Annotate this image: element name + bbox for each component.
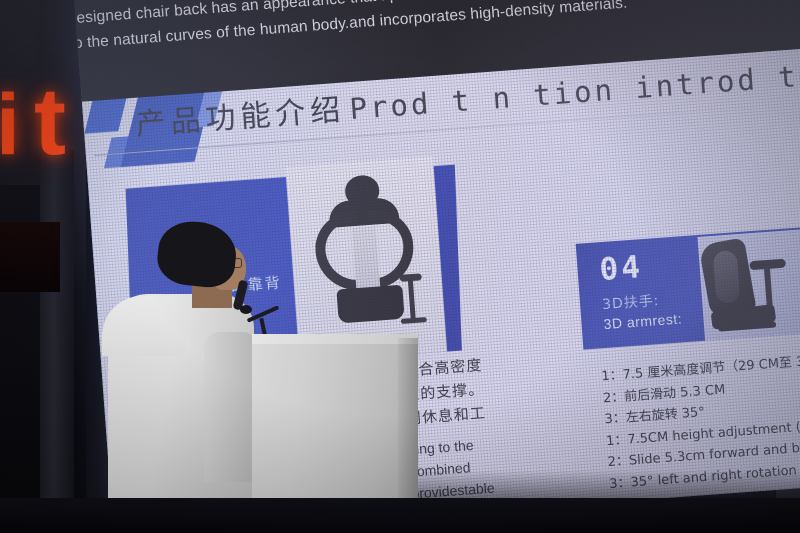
floor: [0, 498, 800, 533]
slide-title-cn: 产品功能介绍: [135, 92, 347, 142]
card-label-cn: 3D扶手:: [601, 290, 660, 314]
chair-back-photo: [285, 156, 447, 362]
card-number: 04: [598, 249, 644, 288]
venue-sign-letter-t: t: [34, 74, 64, 170]
office-chair-photo: [697, 229, 800, 341]
subtitle-text: designed chair back has an appearance th…: [74, 0, 800, 56]
hall-pillar: [40, 150, 74, 533]
presentation-photo: i t 产品功能介绍 Prod t n tion introd tion: [0, 0, 800, 533]
venue-sign: i t: [0, 72, 74, 182]
venue-sign-letter-i: i: [0, 82, 18, 168]
venue-sign-base: [0, 222, 60, 292]
podium-top: [252, 334, 418, 344]
presenter: [108, 222, 248, 533]
card-label-en: 3D armrest:: [603, 310, 683, 332]
podium-microphone-icon: [240, 305, 252, 314]
chair-back-illustration: [304, 171, 427, 329]
